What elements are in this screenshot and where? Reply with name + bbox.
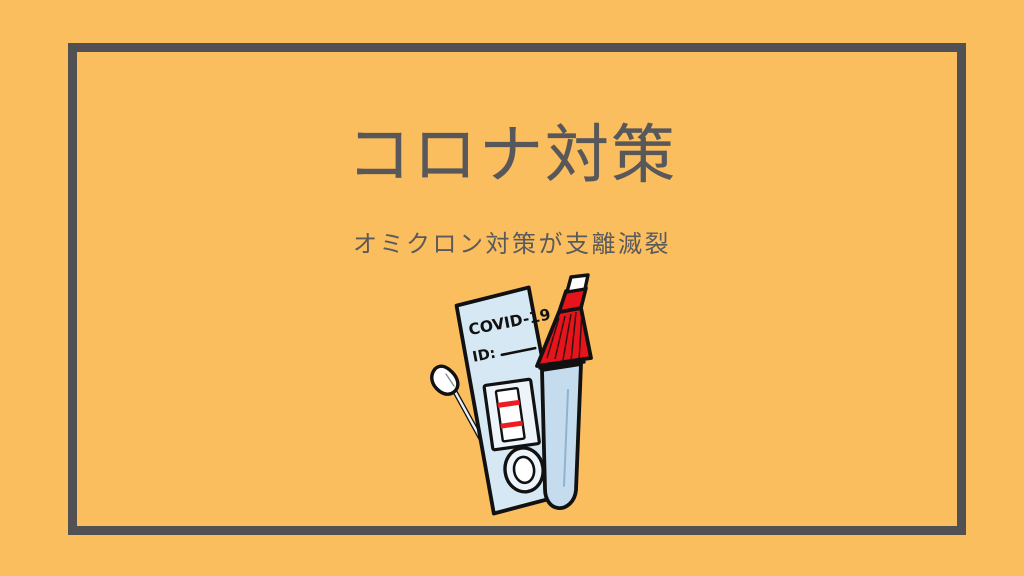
title-block: コロナ対策 オミクロン対策が支離滅裂 — [0, 120, 1024, 259]
page-title: コロナ対策 — [0, 120, 1024, 194]
page-subtitle: オミクロン対策が支離滅裂 — [0, 224, 1024, 259]
slide-canvas: コロナ対策 オミクロン対策が支離滅裂 COVID-19 ID: — [0, 0, 1024, 576]
covid-test-kit-illustration: COVID-19 ID: C T S — [418, 278, 618, 522]
